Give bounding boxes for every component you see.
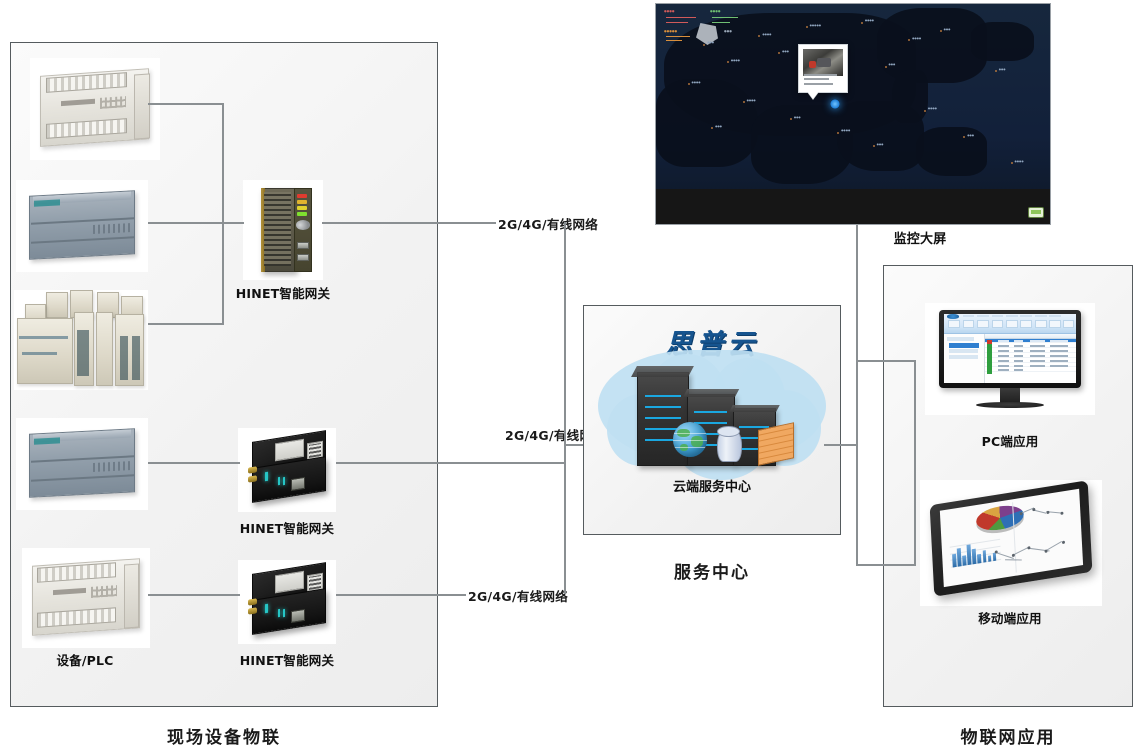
plc-mitsubishi-top bbox=[30, 58, 160, 160]
wire-gw-din-out bbox=[322, 222, 496, 224]
gateway-box-bottom bbox=[238, 560, 336, 644]
wire-gw-bottom-out bbox=[336, 594, 466, 596]
wire-plc-siemens-mid bbox=[148, 462, 240, 464]
gateway-din-rail bbox=[243, 180, 323, 280]
caption-service-zone: 服务中心 bbox=[583, 558, 841, 583]
wire-bigscreen-riser bbox=[856, 225, 858, 565]
wire-to-pc-app bbox=[856, 360, 916, 362]
plc-siemens-mid bbox=[16, 418, 148, 510]
map-device-popup[interactable] bbox=[798, 44, 848, 93]
label-mobile-application: 移动端应用 bbox=[943, 608, 1077, 627]
label-gateway-box-bottom: HINET智能网关 bbox=[217, 650, 357, 669]
tablet-line-chart-bottom bbox=[989, 526, 1077, 575]
gateway-box-mid bbox=[238, 428, 336, 512]
map-location-marker[interactable] bbox=[830, 99, 840, 109]
label-gateway-box-mid: HINET智能网关 bbox=[217, 518, 357, 537]
label-bigscreen: 监控大屏 bbox=[855, 228, 985, 247]
wire-trunk-vertical bbox=[564, 222, 566, 594]
globe-icon bbox=[673, 422, 707, 456]
wire-gw-mid-out bbox=[336, 462, 565, 464]
monitoring-bigscreen: ●●●● ●●●● ●●●●● ●●● ●●● ●●●● ●●●● ●●● ●●… bbox=[655, 3, 1051, 225]
label-cloud-center: 云端服务中心 bbox=[598, 476, 826, 495]
wire-riser-left bbox=[222, 103, 224, 325]
firewall-icon bbox=[758, 422, 794, 466]
label-pc-application: PC端应用 bbox=[943, 431, 1077, 450]
architecture-diagram: 设备/PLC HINET智能网关 HINET智能网关 bbox=[0, 0, 1143, 752]
screen-status-icon[interactable] bbox=[1028, 207, 1044, 218]
label-gateway-din: HINET智能网关 bbox=[213, 283, 353, 302]
link-label-top: 2G/4G/有线网络 bbox=[498, 214, 598, 233]
pc-application-monitor bbox=[925, 303, 1095, 415]
link-label-bottom: 2G/4G/有线网络 bbox=[468, 586, 568, 605]
plc-module-rack bbox=[14, 290, 148, 390]
mobile-application-tablet bbox=[920, 480, 1102, 606]
tablet-line-chart-top bbox=[1018, 497, 1075, 529]
wire-to-mobile-app bbox=[856, 564, 916, 566]
wire-app-zone-riser bbox=[914, 360, 916, 565]
plc-siemens-top bbox=[16, 180, 148, 272]
plc-mitsubishi-bottom bbox=[22, 548, 150, 648]
wire-plc-top bbox=[148, 103, 224, 105]
database-icon bbox=[717, 431, 742, 462]
cloud-service-graphic: 思普云 云端服务中心 bbox=[598, 318, 826, 498]
label-plc-bottom: 设备/PLC bbox=[20, 650, 150, 669]
wire-plc-rack bbox=[148, 323, 224, 325]
map-legend: ●●●● ●●●● ●●●●● ●●● bbox=[664, 9, 794, 45]
caption-application-zone: 物联网应用 bbox=[883, 723, 1133, 748]
wire-cloud-to-apps bbox=[824, 444, 858, 446]
wire-plc-siemens-top bbox=[148, 222, 244, 224]
wire-plc-bottom bbox=[148, 594, 240, 596]
caption-field-zone: 现场设备物联 bbox=[10, 723, 438, 748]
